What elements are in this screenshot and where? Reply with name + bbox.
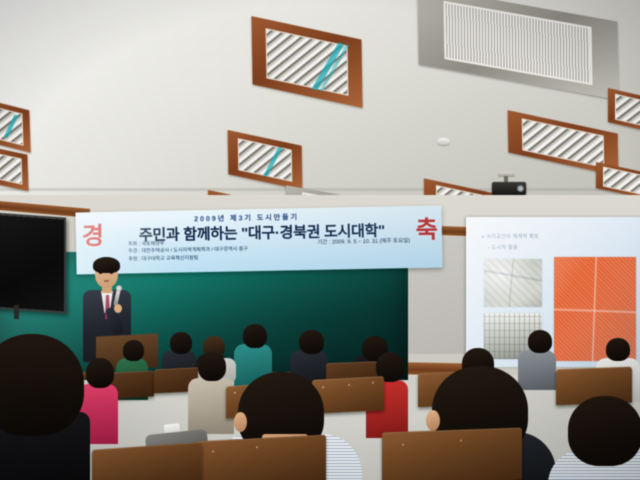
smoke-detector-icon xyxy=(437,138,450,145)
wall-monitor-mount xyxy=(14,305,19,319)
banner-date: 기간 : 2009. 9. 5 ~ 10. 31 (매주 토요일) xyxy=(317,236,410,246)
wall-monitor xyxy=(0,212,66,313)
banner-char-left: 경 xyxy=(82,224,105,248)
banner-organizers: 주최 : 국토해양부 주관 : 대한주택공사 / 도시지역계획학과 / 대구광역… xyxy=(128,238,318,263)
projector-icon xyxy=(492,176,526,196)
lecture-hall-photo: 경 축 2009년 제3기 도시만들기 주민과 함께하는 "대구·경북권 도시대… xyxy=(0,0,640,480)
lecture-seat-foreground xyxy=(196,435,326,480)
lecture-seat-foreground xyxy=(382,428,522,480)
banner-char-right: 축 xyxy=(416,218,439,242)
lecture-seat-foreground xyxy=(92,442,202,480)
